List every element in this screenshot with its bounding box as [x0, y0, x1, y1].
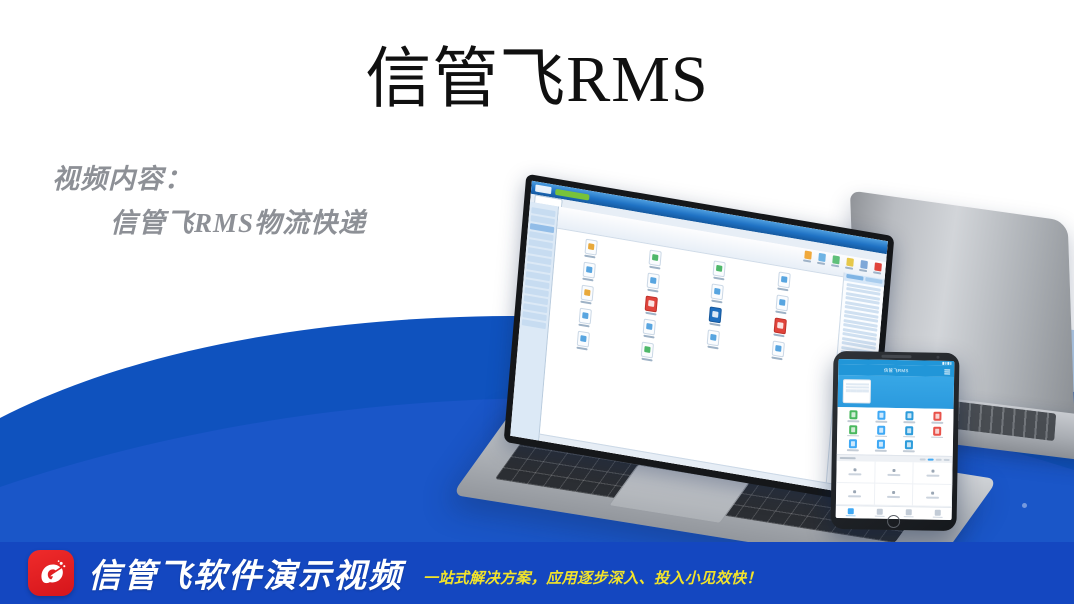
grid-item[interactable] [747, 336, 810, 364]
mobile-icon-grid[interactable] [837, 407, 954, 456]
stat-cell [914, 462, 953, 485]
mobile-grid-item[interactable] [867, 440, 894, 452]
stat-cell [913, 484, 952, 507]
decorative-dot [1022, 503, 1027, 508]
brand-name: 信管飞软件演示视频 [88, 549, 403, 597]
banner-text [875, 392, 949, 393]
slide-canvas: 信管飞RMS 视频内容： 信管飞RMS物流快递 [0, 0, 1074, 604]
mobile-grid-item[interactable] [839, 410, 866, 422]
mobile-grid-item[interactable] [896, 426, 923, 438]
mobile-app-title: 信管飞RMS [884, 367, 909, 373]
smartphone: 信管飞RMS [830, 351, 959, 531]
stat-cell [875, 484, 914, 507]
section-title [840, 457, 856, 459]
mobile-grid-item[interactable] [924, 426, 951, 438]
banner-device-illustration [843, 379, 871, 403]
mobile-grid-item[interactable] [839, 439, 866, 451]
section-filters[interactable] [920, 458, 950, 461]
toolbar-button-edit[interactable] [817, 253, 826, 267]
toolbar-button-search[interactable] [845, 257, 854, 271]
phone-speaker [881, 355, 911, 358]
mobile-stats-grid [836, 461, 953, 507]
mobile-grid-item[interactable] [895, 440, 922, 452]
tab-profile[interactable] [923, 507, 952, 520]
brand-tagline: 一站式解决方案，应用逐步深入、投入小见效快！ [423, 567, 762, 588]
phone-signal-icon [942, 362, 951, 365]
toolbar-button-new[interactable] [803, 250, 812, 264]
phone-home-button[interactable] [887, 515, 900, 528]
right-panel-tab-favorites[interactable] [865, 277, 882, 284]
grid-item[interactable] [616, 337, 679, 365]
mobile-grid-item[interactable] [868, 411, 895, 423]
hamburger-menu-icon[interactable] [944, 369, 950, 374]
bottom-banner: 信管飞软件演示视频 一站式解决方案，应用逐步深入、投入小见效快！ [0, 542, 1074, 604]
mobile-grid-item[interactable] [839, 425, 866, 437]
device-mockups: 信管飞RMS [0, 0, 1074, 604]
app-logo-icon [535, 184, 552, 194]
mobile-grid-item-empty [924, 441, 951, 453]
mobile-app-header: 信管飞RMS [838, 364, 954, 377]
mobile-grid-item[interactable] [867, 425, 894, 437]
mobile-grid-item[interactable] [924, 412, 951, 424]
phone-camera-icon [936, 356, 939, 359]
toolbar-button-print[interactable] [859, 260, 868, 274]
dove-logo-icon [28, 550, 74, 596]
grid-item[interactable] [551, 326, 614, 354]
right-panel-tab-todo[interactable] [846, 274, 863, 281]
stat-cell [836, 461, 875, 484]
mobile-grid-item[interactable] [896, 411, 923, 423]
toolbar-button-exit[interactable] [873, 262, 882, 276]
phone-screen: 信管飞RMS [836, 359, 955, 520]
mobile-banner [838, 375, 955, 409]
toolbar-button-delete[interactable] [831, 255, 840, 269]
tab-home[interactable] [836, 506, 865, 519]
grid-item[interactable] [682, 325, 745, 353]
stat-cell [875, 461, 914, 484]
stat-cell [836, 483, 875, 506]
